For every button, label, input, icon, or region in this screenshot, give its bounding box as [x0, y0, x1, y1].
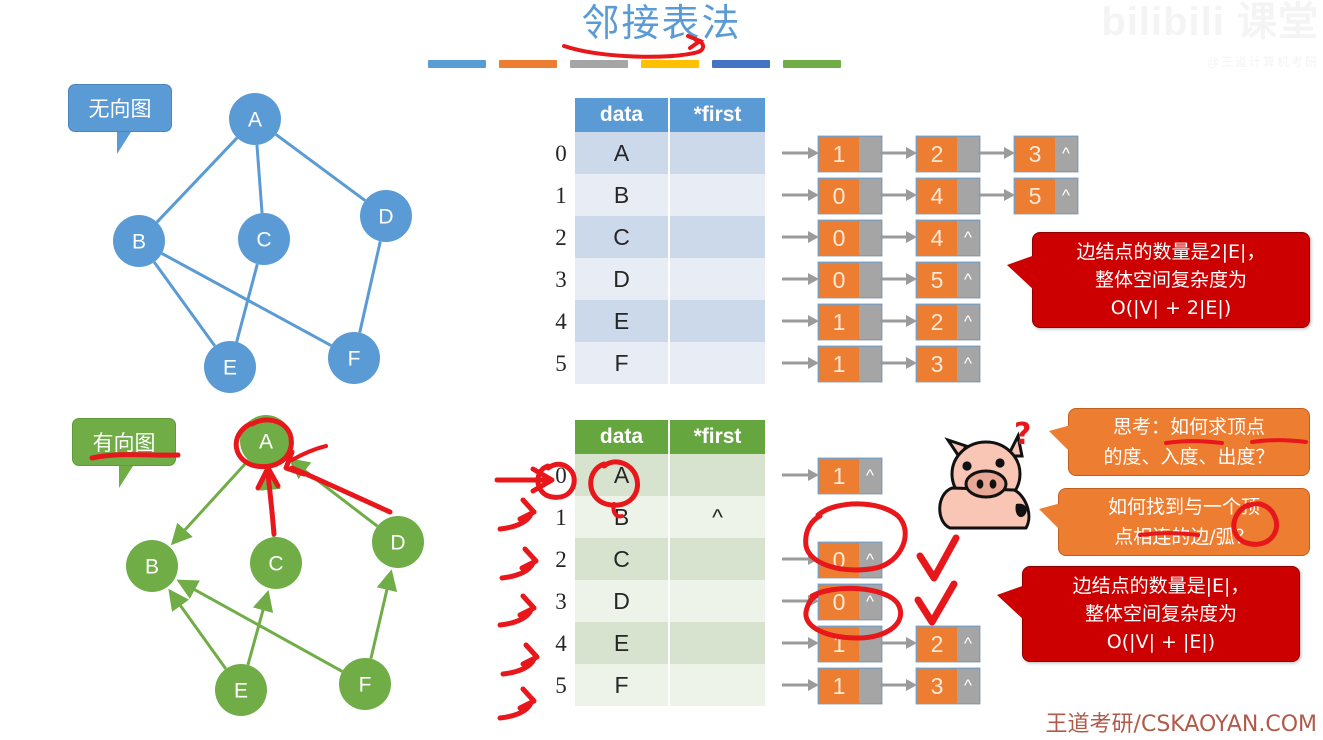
row-index-3: 3	[548, 589, 574, 615]
row-index-4: 4	[548, 309, 574, 335]
row-index-5: 5	[548, 673, 574, 699]
red-ink-annotations	[0, 0, 1323, 740]
row-index-4: 4	[548, 631, 574, 657]
row-index-1: 1	[548, 183, 574, 209]
row-index-1: 1	[548, 505, 574, 531]
row-index-2: 2	[548, 547, 574, 573]
row-index-0: 0	[548, 463, 574, 489]
footer-brand: 王道考研/CSKAOYAN.COM	[1046, 706, 1317, 738]
row-index-0: 0	[548, 141, 574, 167]
row-index-5: 5	[548, 351, 574, 377]
row-index-3: 3	[548, 267, 574, 293]
row-index-2: 2	[548, 225, 574, 251]
